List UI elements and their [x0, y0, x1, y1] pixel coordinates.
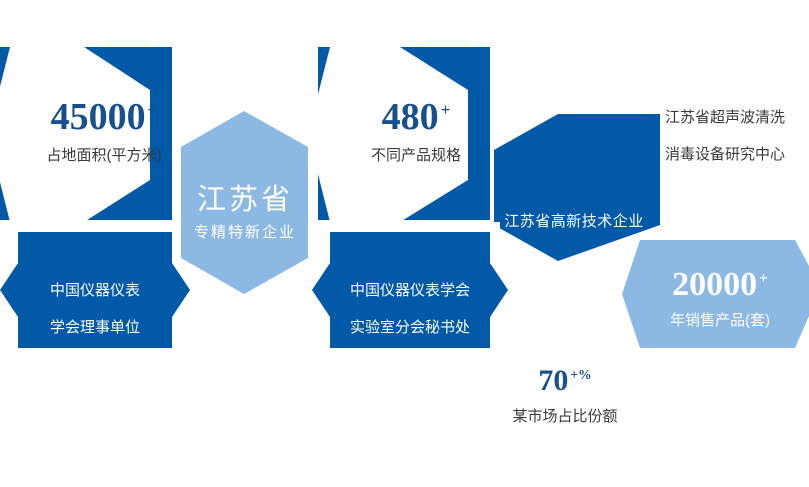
annual-sales-caption: 年销售产品(套) [630, 313, 809, 328]
instrument-society-council-line1: 中国仪器仪表 [18, 283, 172, 298]
market-share-caption: 某市场占比份额 [470, 409, 660, 424]
cell-market-share: 70+% 某市场占比份额 [470, 366, 660, 424]
hexagon-shapes-layer [0, 0, 809, 487]
hexagon-instrument-society-council-left-notch [0, 263, 18, 317]
cell-annual-sales: 20000+ 年销售产品(套) [630, 268, 809, 328]
hi-tech-enterprise-label: 江苏省高新技术企业 [482, 214, 666, 229]
research-center-line1: 江苏省超声波清洗 [640, 110, 809, 125]
hexagon-instrument-society-council-right-notch [172, 263, 190, 317]
jiangsu-sme-line1: 江苏省 [172, 186, 318, 215]
cell-research-center: 江苏省超声波清洗 消毒设备研究中心 [640, 110, 809, 162]
cell-lab-branch-secretariat: 中国仪器仪表学会 实验室分会秘书处 [330, 283, 490, 335]
market-share-number: 70+% [470, 366, 660, 396]
cell-hi-tech-enterprise: 江苏省高新技术企业 [482, 214, 666, 229]
product-specs-caption: 不同产品规格 [312, 148, 520, 163]
research-center-line2: 消毒设备研究中心 [640, 147, 809, 162]
lab-branch-secretariat-line1: 中国仪器仪表学会 [330, 283, 490, 298]
instrument-society-council-line2: 学会理事单位 [18, 320, 172, 335]
cell-instrument-society-council: 中国仪器仪表 学会理事单位 [18, 283, 172, 335]
jiangsu-sme-line2: 专精特新企业 [172, 225, 318, 240]
cell-land-area: 45000+ 占地面积(平方米) [0, 98, 208, 163]
cell-jiangsu-sme: 江苏省 专精特新企业 [172, 186, 318, 240]
annual-sales-number: 20000+ [630, 268, 809, 302]
lab-branch-secretariat-line2: 实验室分会秘书处 [330, 320, 490, 335]
product-specs-number: 480+ [312, 98, 520, 136]
land-area-caption: 占地面积(平方米) [0, 148, 208, 163]
land-area-number: 45000+ [0, 98, 208, 136]
hexagon-lab-branch-secretariat-left-notch [312, 263, 330, 317]
infographic-stage: 45000+ 占地面积(平方米) 江苏省 专精特新企业 480+ 不同产品规格 … [0, 0, 809, 487]
hexagon-lab-branch-secretariat-right-notch [490, 263, 508, 317]
separator-bar [352, 222, 500, 230]
cell-product-specs: 480+ 不同产品规格 [312, 98, 520, 163]
